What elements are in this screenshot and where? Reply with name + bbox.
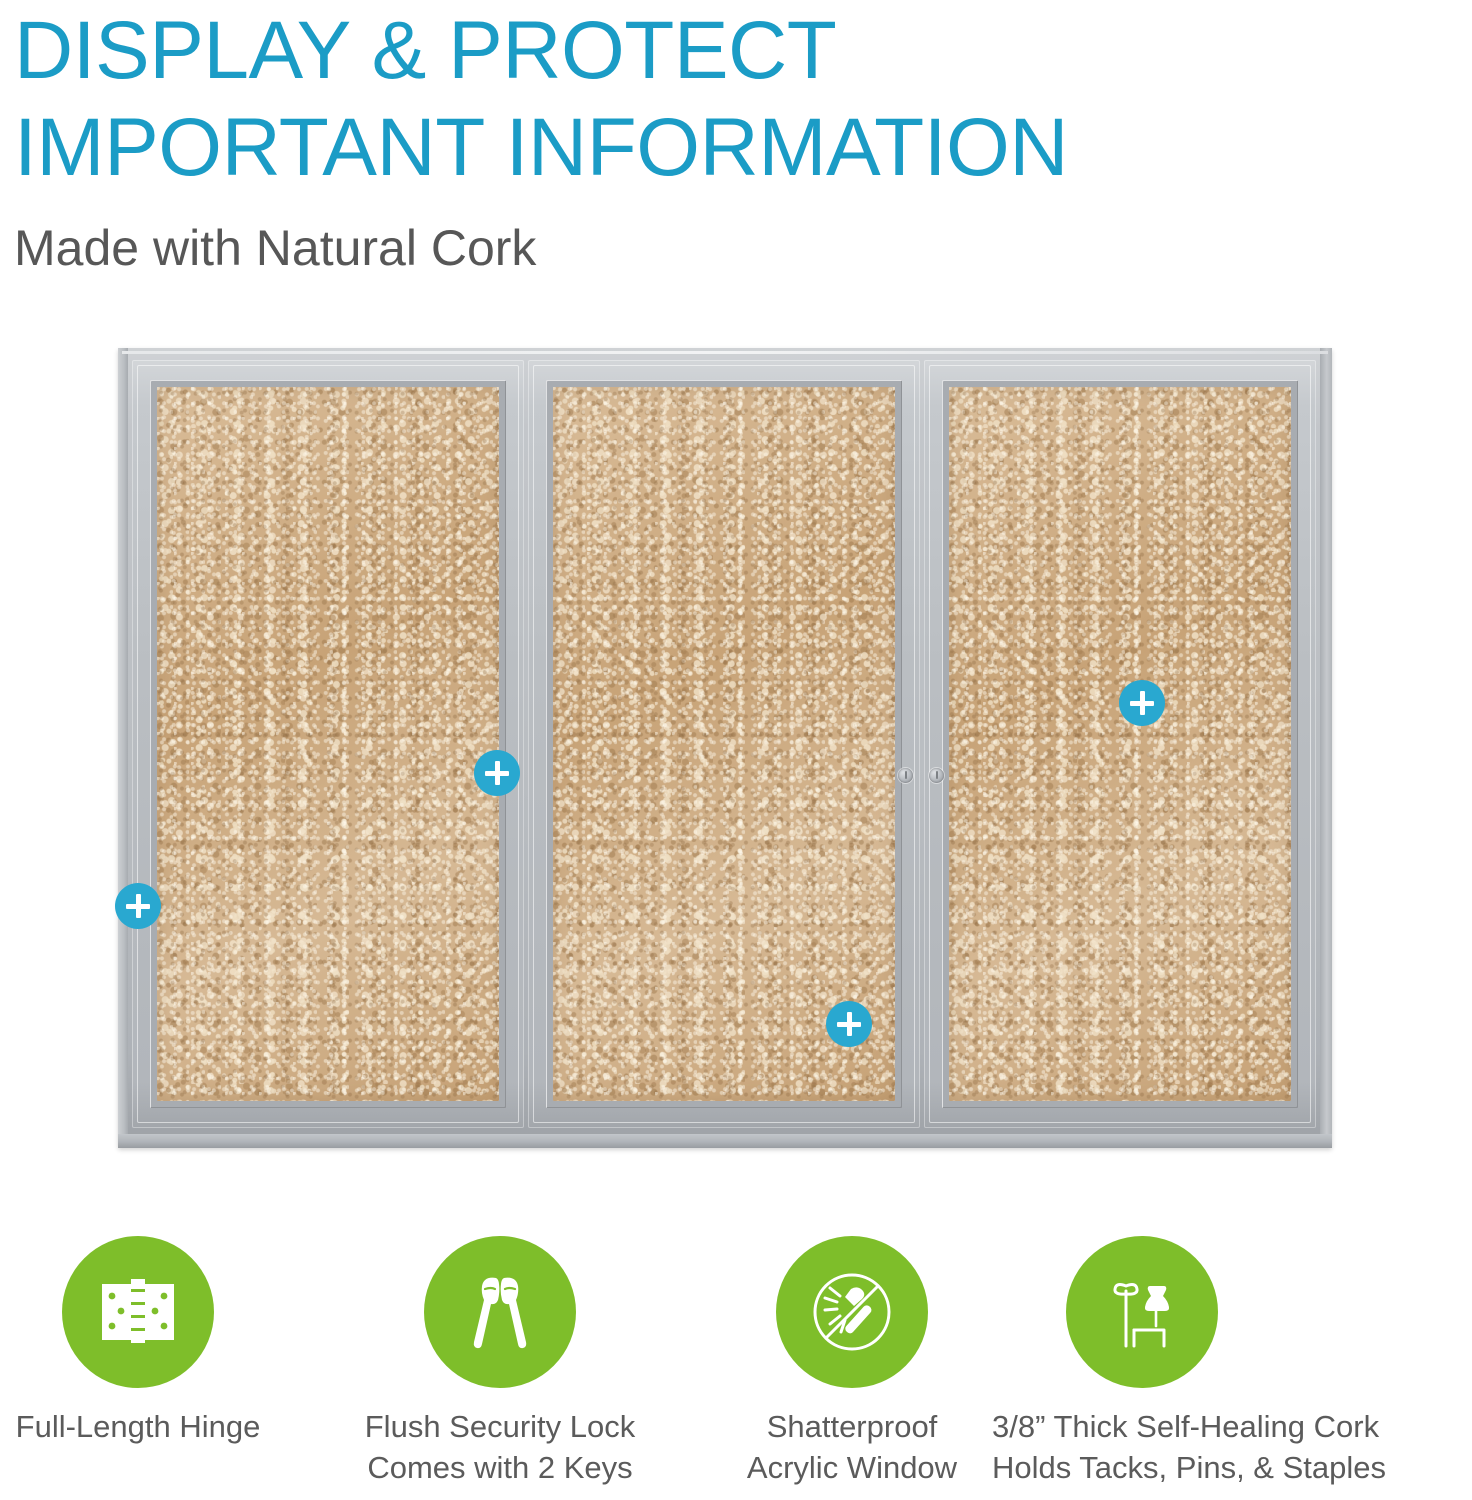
feature-label-window: Shatterproof Acrylic Window bbox=[702, 1406, 1002, 1488]
lock-cylinder-2[interactable] bbox=[898, 768, 913, 783]
feature-label-line2: Acrylic Window bbox=[702, 1447, 1002, 1488]
feature-item-cork[interactable]: 3/8” Thick Self-Healing Cork Holds Tacks… bbox=[992, 1236, 1292, 1488]
feature-item-lock[interactable]: Flush Security Lock Comes with 2 Keys bbox=[350, 1236, 650, 1488]
plus-icon-vertical bbox=[847, 1012, 852, 1036]
feature-label-cork: 3/8” Thick Self-Healing Cork Holds Tacks… bbox=[992, 1406, 1292, 1488]
feature-item-window[interactable]: Shatterproof Acrylic Window bbox=[702, 1236, 1002, 1488]
door-group bbox=[132, 360, 1316, 1128]
plus-icon-vertical bbox=[1140, 691, 1145, 715]
door-inner-bevel-1 bbox=[150, 380, 506, 1108]
door-inner-bevel-3 bbox=[942, 380, 1298, 1108]
frame-edge-bottom bbox=[118, 1134, 1332, 1148]
pins-tacks-icon bbox=[1094, 1264, 1190, 1360]
cork-surface-2 bbox=[553, 387, 895, 1101]
board-outer-frame bbox=[118, 348, 1332, 1148]
plus-icon-vertical bbox=[495, 761, 500, 785]
feature-label-hinge: Full-Length Hinge bbox=[0, 1406, 288, 1447]
callout-marker-lock[interactable] bbox=[474, 750, 520, 796]
page-subtitle: Made with Natural Cork bbox=[14, 196, 1314, 278]
page-title-line1: DISPLAY & PROTECT bbox=[14, 2, 1314, 99]
feature-label-line1: Full-Length Hinge bbox=[0, 1406, 288, 1447]
feature-label-lock: Flush Security Lock Comes with 2 Keys bbox=[350, 1406, 650, 1488]
feature-label-line1: 3/8” Thick Self-Healing Cork bbox=[992, 1406, 1292, 1447]
callout-marker-hinge[interactable] bbox=[115, 883, 161, 929]
plus-icon bbox=[474, 750, 520, 796]
no-hammer-icon bbox=[804, 1264, 900, 1360]
plus-icon bbox=[826, 1001, 872, 1047]
cork-board-product-image bbox=[118, 348, 1332, 1148]
cork-surface-3 bbox=[949, 387, 1291, 1101]
feature-list: Full-Length Hinge Flush Security Lock Co… bbox=[0, 1236, 1472, 1500]
callout-marker-window[interactable] bbox=[826, 1001, 872, 1047]
feature-label-line2: Comes with 2 Keys bbox=[350, 1447, 650, 1488]
door-panel-3[interactable] bbox=[924, 360, 1316, 1128]
header-block: DISPLAY & PROTECT IMPORTANT INFORMATION … bbox=[14, 2, 1314, 278]
page-title-line2: IMPORTANT INFORMATION bbox=[14, 99, 1314, 196]
frame-edge-right bbox=[1320, 348, 1332, 1148]
keys-icon bbox=[452, 1264, 548, 1360]
feature-item-hinge[interactable]: Full-Length Hinge bbox=[0, 1236, 288, 1447]
feature-icon-badge-window bbox=[776, 1236, 928, 1388]
feature-icon-badge-hinge bbox=[62, 1236, 214, 1388]
feature-label-line2: Holds Tacks, Pins, & Staples bbox=[992, 1447, 1292, 1488]
feature-icon-badge-cork bbox=[1066, 1236, 1218, 1388]
cork-surface-1 bbox=[157, 387, 499, 1101]
plus-icon bbox=[1119, 680, 1165, 726]
feature-label-line1: Shatterproof bbox=[702, 1406, 1002, 1447]
lock-cylinder-3[interactable] bbox=[929, 768, 944, 783]
callout-marker-cork[interactable] bbox=[1119, 680, 1165, 726]
feature-label-line1: Flush Security Lock bbox=[350, 1406, 650, 1447]
door-inner-bevel-2 bbox=[546, 380, 902, 1108]
frame-edge-left bbox=[118, 348, 128, 1148]
plus-icon bbox=[115, 883, 161, 929]
hinge-icon bbox=[90, 1264, 186, 1360]
plus-icon-vertical bbox=[136, 894, 141, 918]
feature-icon-badge-lock bbox=[424, 1236, 576, 1388]
door-panel-1[interactable] bbox=[132, 360, 524, 1128]
